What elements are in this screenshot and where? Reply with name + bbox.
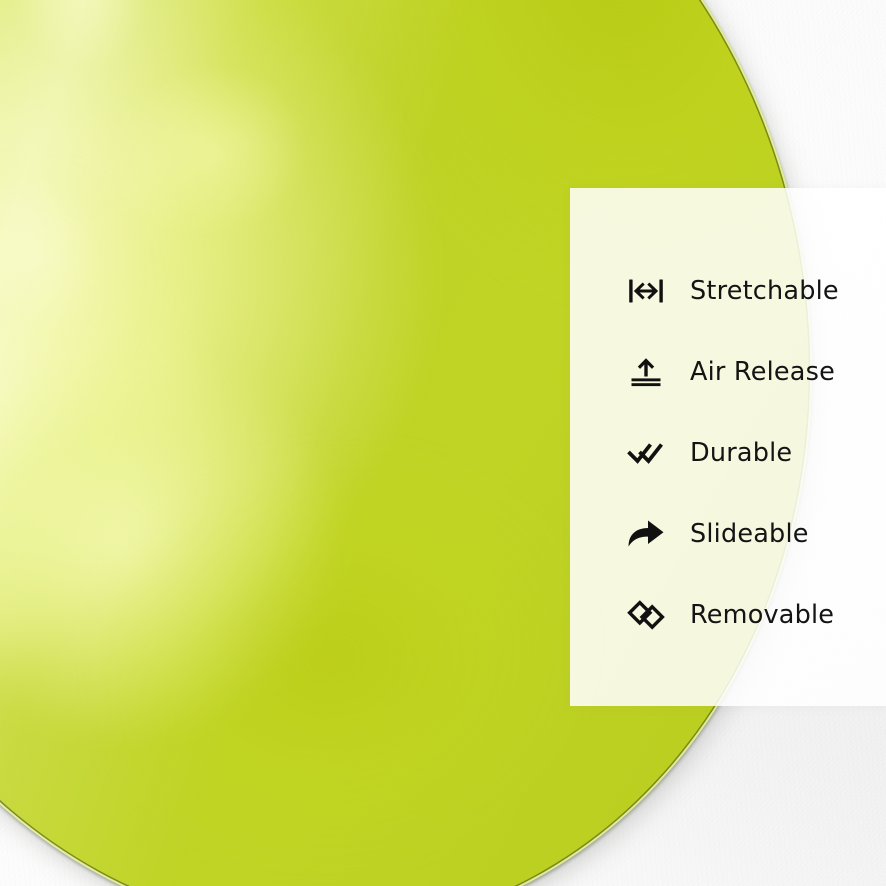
feature-label: Air Release — [690, 357, 835, 387]
product-feature-image: Stretchable Air Release — [0, 0, 886, 886]
air-release-icon — [626, 355, 666, 389]
feature-row-removable: Removable — [570, 574, 886, 655]
feature-label: Slideable — [690, 519, 809, 549]
stretchable-icon — [626, 274, 666, 308]
feature-label: Removable — [690, 600, 834, 630]
feature-row-stretchable: Stretchable — [570, 250, 886, 331]
feature-row-slideable: Slideable — [570, 493, 886, 574]
feature-panel: Stretchable Air Release — [570, 188, 886, 706]
removable-icon — [626, 598, 666, 632]
feature-row-durable: Durable — [570, 412, 886, 493]
feature-label: Stretchable — [690, 276, 839, 306]
durable-icon — [626, 436, 666, 470]
feature-row-air-release: Air Release — [570, 331, 886, 412]
feature-label: Durable — [690, 438, 792, 468]
slideable-icon — [626, 517, 666, 551]
feature-list: Stretchable Air Release — [570, 188, 886, 655]
